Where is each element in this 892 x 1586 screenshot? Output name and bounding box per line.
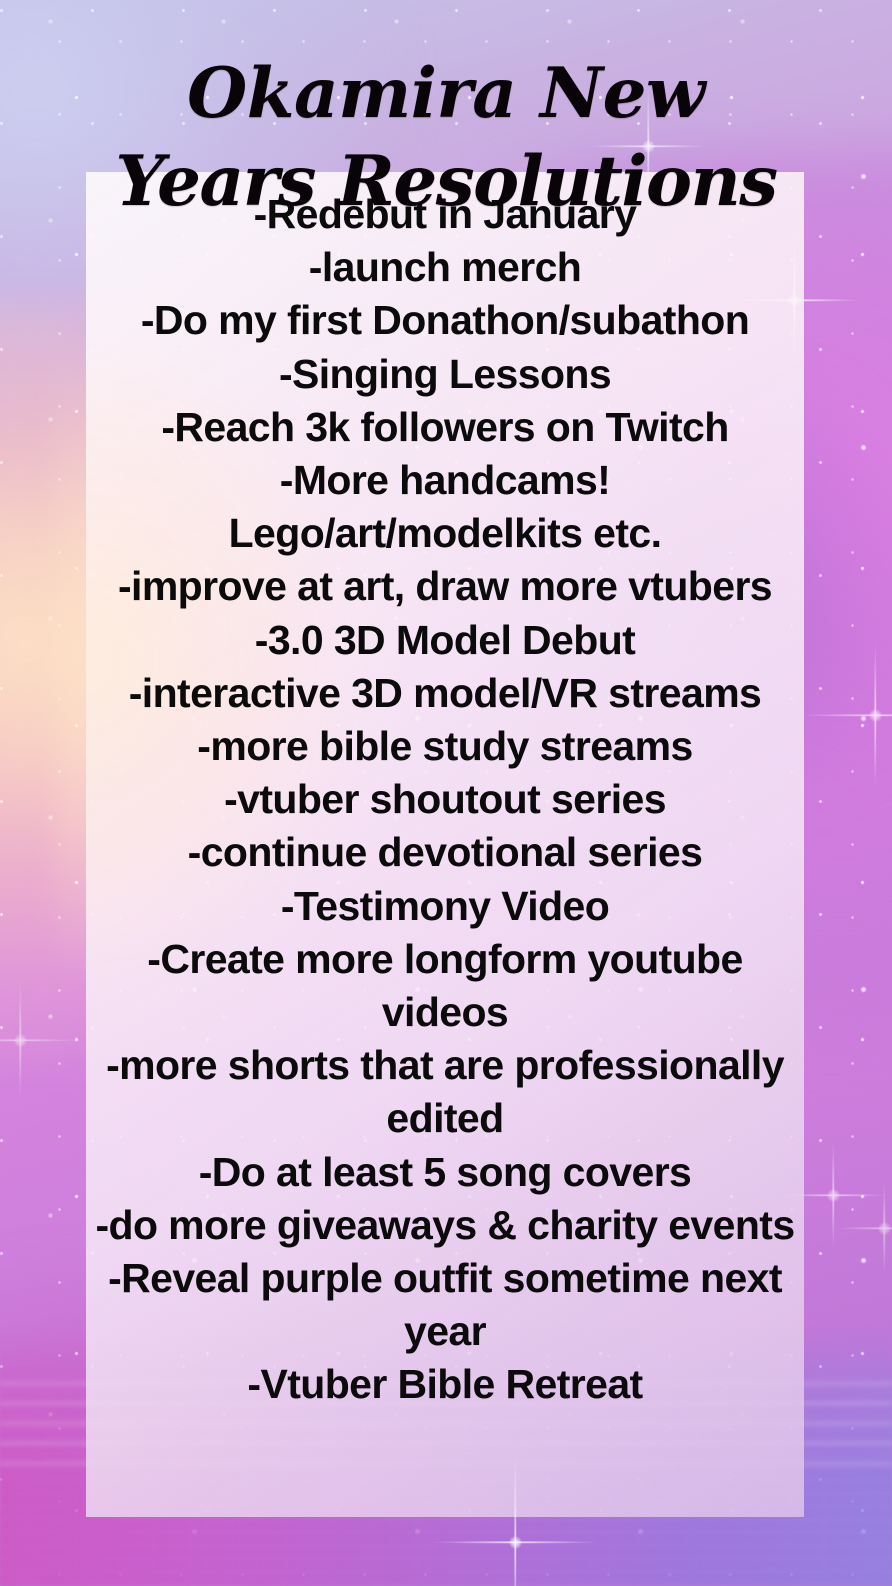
- poster: Okamira New Years Resolutions -Redebut i…: [0, 0, 892, 1586]
- list-item: -interactive 3D model/VR streams: [92, 667, 798, 720]
- list-item: -Testimony Video: [92, 880, 798, 933]
- list-item: -Singing Lessons: [92, 348, 798, 401]
- list-item: -More handcams!: [92, 454, 798, 507]
- list-item: -more shorts that are professionally edi…: [92, 1039, 798, 1145]
- list-item: -launch merch: [92, 241, 798, 294]
- list-item: -vtuber shoutout series: [92, 773, 798, 826]
- list-item: -Reach 3k followers on Twitch: [92, 401, 798, 454]
- list-item: -improve at art, draw more vtubers: [92, 560, 798, 613]
- list-item: -3.0 3D Model Debut: [92, 614, 798, 667]
- list-item: -Reveal purple outfit sometime next year: [92, 1252, 798, 1358]
- resolutions-list: -Redebut in January -launch merch -Do my…: [86, 188, 804, 1412]
- list-item: -Do my first Donathon/subathon: [92, 294, 798, 347]
- list-item: -Create more longform youtube videos: [92, 933, 798, 1039]
- page-title-line-1: Okamira New: [0, 50, 892, 138]
- page-title-line-2: Years Resolutions: [0, 138, 892, 226]
- resolutions-card: -Redebut in January -launch merch -Do my…: [86, 172, 804, 1517]
- list-item: -do more giveaways & charity events: [92, 1199, 798, 1252]
- list-item: Lego/art/modelkits etc.: [92, 507, 798, 560]
- list-item: -Do at least 5 song covers: [92, 1146, 798, 1199]
- list-item: -Vtuber Bible Retreat: [92, 1358, 798, 1411]
- page-title: Okamira New Years Resolutions: [0, 50, 892, 226]
- list-item: -continue devotional series: [92, 826, 798, 879]
- list-item: -more bible study streams: [92, 720, 798, 773]
